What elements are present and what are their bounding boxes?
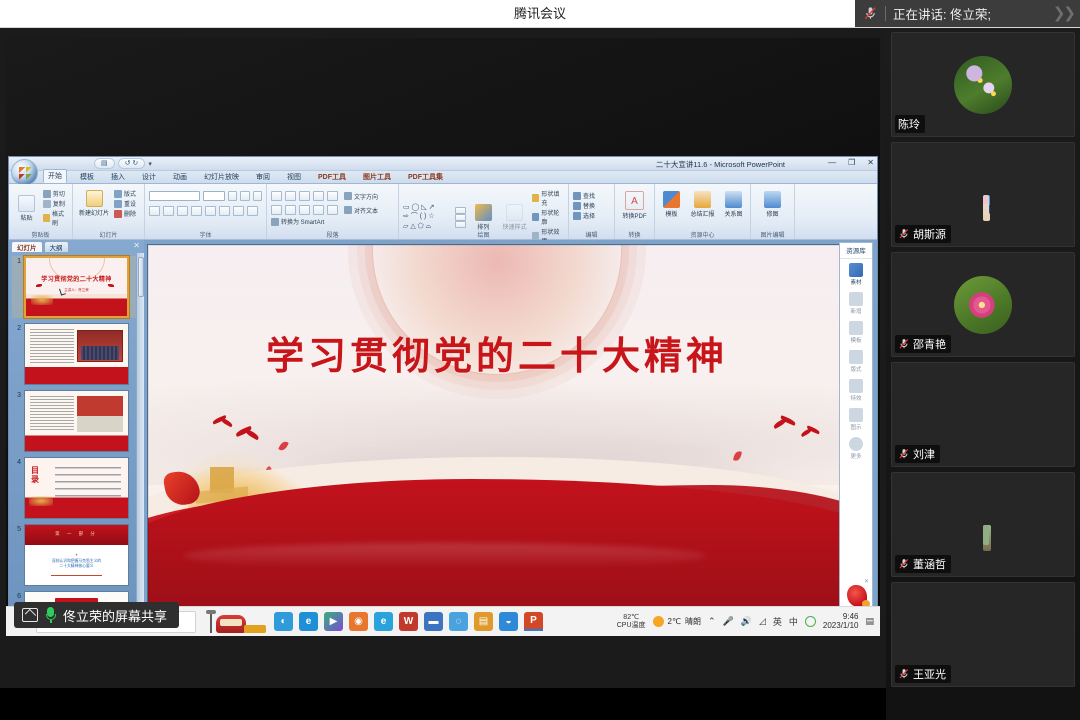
ribbon-group-font: 字体 <box>145 184 267 239</box>
app-cortana-icon[interactable]: ◐ <box>274 612 293 631</box>
decrease-indent-button[interactable] <box>299 191 310 201</box>
taskbar-clock[interactable]: 9:46 2023/1/10 <box>823 613 859 631</box>
copy-icon <box>43 200 51 208</box>
restore-button[interactable]: ❐ <box>848 158 855 167</box>
more-icon <box>849 437 863 451</box>
shadow-button[interactable] <box>205 206 216 216</box>
ribbon-tab-image-tools[interactable]: 图片工具 <box>359 171 395 183</box>
font-color-button[interactable] <box>247 206 258 216</box>
shape-fill-button[interactable]: 形状填充 <box>532 189 564 207</box>
text-direction-button[interactable]: 文字方向 <box>344 192 378 201</box>
convert-to-pdf-button[interactable]: A 转换PDF <box>620 191 650 220</box>
diagram-icon <box>725 191 742 208</box>
ribbon-tab-design[interactable]: 设计 <box>138 171 160 183</box>
ime-language-icon[interactable]: 英 <box>773 615 782 628</box>
arrange-button[interactable]: 排列 <box>469 204 497 231</box>
bold-button[interactable] <box>149 206 160 216</box>
resource-item-assets[interactable]: 素材 <box>840 259 872 288</box>
thumbnail-number: 1 <box>12 256 21 318</box>
participant-tile-shaoqingyan[interactable]: 邵青艳 <box>891 252 1075 357</box>
microphone-icon[interactable]: 🎤 <box>723 616 734 627</box>
badge-divider <box>885 6 886 21</box>
character-spacing-button[interactable] <box>219 206 230 216</box>
font-family-select[interactable] <box>149 191 200 201</box>
resource-item-add[interactable]: 新增 <box>840 288 872 317</box>
ribbon-group-clipboard: 粘贴 剪切 复制 格式刷 剪贴板 <box>9 184 73 239</box>
shared-screen-region: ▤ ↺ ↻ ▾ 二十大宣讲11.6 - Microsoft PowerPoint… <box>0 28 886 688</box>
numbering-button[interactable] <box>285 191 296 201</box>
participant-tile-husiyuan[interactable]: 胡斯源 <box>891 142 1075 247</box>
system-tray: 82℃ CPU温度 2℃ 晴朗 ⌃ 🎤 🔊 ◿ 英 中 <box>617 613 876 631</box>
thumbnail-slide-2[interactable]: 2 <box>12 323 136 385</box>
quick-styles-button[interactable]: 快速样式 <box>501 204 529 231</box>
ribbon-tabs[interactable]: 开始 模板 插入 设计 动画 幻灯片放映 审阅 视图 PDF工具 图片工具 PD… <box>9 171 877 184</box>
clock-date: 2023/1/10 <box>823 621 859 630</box>
delete-icon <box>114 210 122 218</box>
cut-button[interactable]: 剪切 <box>43 189 68 198</box>
app-meeting-icon[interactable]: ◒ <box>499 612 518 631</box>
paste-label: 粘贴 <box>20 213 32 222</box>
paste-icon <box>18 195 35 212</box>
participant-name-label: 董涵哲 <box>895 555 951 573</box>
tab-outline[interactable]: 大纲 <box>44 241 69 252</box>
shapes-more[interactable] <box>455 221 466 228</box>
participant-name-label: 王亚光 <box>895 665 951 683</box>
photo-edit-icon <box>764 191 781 208</box>
shapes-gallery[interactable]: ▭ ◯ ◺ ↗⇨ ⌒ ( ) ☆▱ △ ⬠ ⌓ <box>403 203 452 231</box>
app-chat-icon[interactable]: ◌ <box>449 612 468 631</box>
new-slide-icon <box>86 190 103 207</box>
weather-widget[interactable]: 2℃ 晴朗 <box>653 616 701 627</box>
effects-icon <box>849 379 863 393</box>
silk-highlight <box>183 543 707 569</box>
font-size-select[interactable] <box>203 191 225 201</box>
find-button[interactable]: 查找 <box>573 191 610 200</box>
cpu-temp-value: 82℃ <box>623 614 639 621</box>
shapes-scroll-down[interactable] <box>455 214 466 221</box>
format-painter-button[interactable]: 格式刷 <box>43 209 68 227</box>
meeting-titlebar: 腾讯会议 正在讲话: 佟立荣; ❯❯ <box>0 0 1080 28</box>
ribbon-tab-start[interactable]: 开始 <box>43 169 67 183</box>
ribbon-group-drawing: ▭ ◯ ◺ ↗⇨ ⌒ ( ) ☆▱ △ ⬠ ⌓ 排列 <box>399 184 569 239</box>
replace-button[interactable]: 替换 <box>573 201 610 210</box>
ribbon-tab-slideshow[interactable]: 幻灯片放映 <box>200 171 243 183</box>
align-right-button[interactable] <box>299 205 310 215</box>
ribbon-tab-template[interactable]: 模板 <box>76 171 98 183</box>
align-text-icon <box>344 206 352 214</box>
sun-icon <box>653 616 664 627</box>
notification-icon[interactable]: ▤ <box>865 616 874 627</box>
window-controls[interactable]: — ❐ ✕ <box>828 158 874 167</box>
shape-outline-button[interactable]: 形状轮廓 <box>532 208 564 226</box>
mic-off-icon <box>898 228 910 240</box>
microphone-on-icon[interactable] <box>45 607 56 623</box>
active-speaker-label: 正在讲话: 佟立荣; <box>893 4 991 23</box>
resource-item-chart[interactable]: 图示 <box>840 404 872 433</box>
ribbon-group-slides: 新建幻灯片 版式 重设 删除 幻灯片 <box>73 184 145 239</box>
reset-button[interactable]: 重设 <box>114 199 136 208</box>
participant-tile-chenling[interactable]: 陈玲 <box>891 32 1075 137</box>
ribbon-group-resource-center-label: 资源中心 <box>655 230 750 239</box>
change-case-button[interactable] <box>233 206 244 216</box>
ime-status-circle-icon[interactable] <box>805 616 816 627</box>
shapes-scroll-up[interactable] <box>455 207 466 214</box>
thumbnail-preview <box>24 323 129 385</box>
quick-styles-icon <box>506 204 523 221</box>
thumbnail-slide-5[interactable]: 5 第 一 部 分 ✦ 深刻认识和把握马克思主义的二十大精神核心要义 <box>12 524 136 586</box>
close-button[interactable]: ✕ <box>867 158 874 167</box>
layout-icon <box>114 190 122 198</box>
layout-button[interactable]: 版式 <box>114 189 136 198</box>
ribbon: 粘贴 剪切 复制 格式刷 剪贴板 <box>9 184 877 240</box>
convert-smartart-button[interactable]: 转换为 SmartArt <box>271 217 324 226</box>
smartart-icon <box>271 218 279 226</box>
dove-icon <box>770 416 796 430</box>
avatar <box>954 56 1012 114</box>
layout-icon <box>849 350 863 364</box>
mic-off-icon <box>898 558 910 570</box>
resource-item-template[interactable]: 模板 <box>840 317 872 346</box>
align-text-button[interactable]: 对齐文本 <box>344 206 378 215</box>
resource-pane-header[interactable]: 资源库 <box>840 243 872 259</box>
mic-off-icon <box>898 448 910 460</box>
diagram-button[interactable]: 关系图 <box>721 191 746 218</box>
app-chrome-icon[interactable]: ◉ <box>349 612 368 631</box>
ribbon-group-drawing-label: 绘图 <box>399 230 568 239</box>
ribbon-group-paragraph-label: 段落 <box>267 230 398 239</box>
ribbon-group-convert: A 转换PDF 转换 <box>615 184 655 239</box>
chevron-up-icon[interactable]: ⌃ <box>708 616 716 627</box>
app-ie-icon[interactable]: e <box>374 612 393 631</box>
thumbnail-slide-3[interactable]: 3 <box>12 390 136 452</box>
participant-tile-liujin[interactable]: 刘津 <box>891 362 1075 467</box>
weather-temp: 2℃ <box>668 617 681 626</box>
participant-name-label: 陈玲 <box>895 115 925 133</box>
dove-icon <box>798 426 820 438</box>
tab-slides[interactable]: 幻灯片 <box>11 241 43 252</box>
ribbon-group-resource-center: 模板 总结汇报 关系图 资源中心 <box>655 184 751 239</box>
participant-tile-wangyaguang[interactable]: 王亚光 <box>891 582 1075 687</box>
participant-name-label: 胡斯源 <box>895 225 951 243</box>
delete-slide-button[interactable]: 删除 <box>114 209 136 218</box>
minimize-button[interactable]: — <box>828 158 836 167</box>
add-icon <box>849 292 863 306</box>
thumbnail-slide-4[interactable]: 4 目录 <box>12 457 136 519</box>
thumbnail-number: 4 <box>12 457 21 519</box>
photo-edit-button[interactable]: 修图 <box>758 191 788 218</box>
chart-icon <box>849 408 863 422</box>
line-spacing-button[interactable] <box>327 191 338 201</box>
align-left-button[interactable] <box>271 205 282 215</box>
columns-button[interactable] <box>327 205 338 215</box>
arrange-icon <box>475 204 492 221</box>
slide-title-text[interactable]: 学习贯彻党的二十大精神 <box>148 325 846 380</box>
cut-icon <box>43 190 51 198</box>
align-center-button[interactable] <box>285 205 296 215</box>
reset-icon <box>114 200 122 208</box>
ribbon-tab-review[interactable]: 审阅 <box>252 171 274 183</box>
resource-item-layout[interactable]: 版式 <box>840 346 872 375</box>
promo-blob-icon[interactable] <box>847 585 867 607</box>
app-folder-icon[interactable]: ▬ <box>424 612 443 631</box>
ribbon-group-font-label: 字体 <box>145 230 266 239</box>
ribbon-tab-insert[interactable]: 插入 <box>107 171 129 183</box>
ribbon-group-editing-label: 编辑 <box>569 230 614 239</box>
powerpoint-document-title: 二十大宣讲11.6 - Microsoft PowerPoint <box>9 159 877 170</box>
report-icon <box>694 191 711 208</box>
ribbon-tab-animation[interactable]: 动画 <box>169 171 191 183</box>
thumbnail-preview: 第 一 部 分 ✦ 深刻认识和把握马克思主义的二十大精神核心要义 <box>24 524 129 586</box>
thumbnail-number: 5 <box>12 524 21 586</box>
strikethrough-button[interactable] <box>191 206 202 216</box>
clock-time: 9:46 <box>843 612 859 621</box>
resource-library-pane[interactable]: 资源库 素材 新增 模板 版式 特效 图示 更多 ✕ <box>839 242 873 618</box>
ribbon-group-photo-edit-label: 图片编辑 <box>751 230 794 239</box>
slide-thumbnail-pane: 幻灯片 大纲 ✕ 1 学习贯彻党的二十大精神 主讲人：佟立荣 <box>9 240 144 620</box>
screen-share-indicator[interactable]: 佟立荣的屏幕共享 <box>14 602 179 628</box>
decrease-font-size-button[interactable] <box>240 191 249 201</box>
select-button[interactable]: 选择 <box>573 211 610 220</box>
mic-off-icon <box>898 668 910 680</box>
participant-name-label: 刘津 <box>895 445 940 463</box>
italic-button[interactable] <box>163 206 174 216</box>
close-icon[interactable]: ✕ <box>864 578 869 585</box>
find-icon <box>573 192 581 200</box>
pdf-convert-icon: A <box>625 191 644 210</box>
cpu-temperature-widget[interactable]: 82℃ CPU温度 <box>617 614 646 629</box>
thumbnail-slide-1[interactable]: 1 学习贯彻党的二十大精神 主讲人：佟立荣 <box>12 256 136 318</box>
mic-off-icon <box>863 6 878 21</box>
thumbnail-pane-tabs[interactable]: 幻灯片 大纲 ✕ <box>9 240 144 252</box>
share-label: 佟立荣的屏幕共享 <box>63 606 167 625</box>
select-icon <box>573 212 581 220</box>
ribbon-tab-view[interactable]: 视图 <box>283 171 305 183</box>
dove-icon <box>212 416 235 429</box>
cpu-temp-label: CPU温度 <box>617 622 646 629</box>
clear-formatting-button[interactable] <box>253 191 262 201</box>
replace-icon <box>573 202 581 210</box>
screen-share-icon <box>22 608 38 622</box>
shape-fill-icon <box>532 194 540 202</box>
format-painter-icon <box>43 214 50 222</box>
assets-icon <box>849 263 863 277</box>
participant-tile-donghanzhe[interactable]: 董涵哲 <box>891 472 1075 577</box>
increase-indent-button[interactable] <box>313 191 324 201</box>
resource-item-effects[interactable]: 特效 <box>840 375 872 404</box>
ribbon-tab-pdf-tools[interactable]: PDF工具 <box>314 171 350 183</box>
app-video-icon[interactable]: ▶ <box>324 612 343 631</box>
ribbon-group-slides-label: 幻灯片 <box>73 230 144 239</box>
underline-button[interactable] <box>177 206 188 216</box>
thumbnail-number: 2 <box>12 323 21 385</box>
ribbon-group-editing: 查找 替换 选择 编辑 <box>569 184 615 239</box>
text-direction-icon <box>344 192 352 200</box>
ribbon-tab-pdf-suite[interactable]: PDF工具集 <box>404 171 447 183</box>
shape-outline-icon <box>532 213 540 221</box>
thumbnail-preview: 目录 <box>24 457 129 519</box>
thumbnail-list[interactable]: 1 学习贯彻党的二十大精神 主讲人：佟立荣 <box>9 253 136 620</box>
chevron-right-icon[interactable]: ❯❯ <box>1053 4 1074 22</box>
app-powerpoint-icon[interactable]: P <box>524 612 543 631</box>
dove-icon <box>235 427 262 442</box>
participant-name-label: 邵青艳 <box>895 335 951 353</box>
thumbnail-preview <box>24 390 129 452</box>
weather-desc: 晴朗 <box>685 616 701 627</box>
mic-off-icon <box>898 338 910 350</box>
remote-desktop: ▤ ↺ ↻ ▾ 二十大宣讲11.6 - Microsoft PowerPoint… <box>6 38 880 636</box>
thumbnail-scrollbar[interactable] <box>136 253 144 620</box>
slide-editor-area[interactable]: 学习贯彻党的二十大精神 主讲人：佟立荣 <box>147 244 847 610</box>
app-wps-icon[interactable]: W <box>399 612 418 631</box>
avatar <box>954 276 1012 334</box>
participant-rail[interactable]: 陈玲 胡斯源 邵青艳 <box>886 28 1080 720</box>
thumbnail-number: 3 <box>12 390 21 452</box>
app-orange-icon[interactable]: ▤ <box>474 612 493 631</box>
template-icon <box>663 191 680 208</box>
thumbnail-preview: 学习贯彻党的二十大精神 主讲人：佟立荣 <box>24 256 129 318</box>
volume-icon[interactable]: 🔊 <box>741 616 752 627</box>
template-icon <box>849 321 863 335</box>
increase-font-size-button[interactable] <box>228 191 237 201</box>
paste-button[interactable]: 粘贴 <box>13 195 40 222</box>
app-edge-icon[interactable]: e <box>299 612 318 631</box>
active-speaker-badge[interactable]: 正在讲话: 佟立荣; ❯❯ <box>855 0 1080 27</box>
powerpoint-titlebar: ▤ ↺ ↻ ▾ 二十大宣讲11.6 - Microsoft PowerPoint… <box>9 157 877 171</box>
taskbar-app-icons[interactable]: ◐ e ▶ ◉ e W ▬ ◌ ▤ ◒ P <box>274 612 543 631</box>
ime-mode-icon[interactable]: 中 <box>789 615 798 628</box>
network-icon[interactable]: ◿ <box>759 616 766 627</box>
new-slide-label: 新建幻灯片 <box>79 208 109 217</box>
resource-item-more[interactable]: 更多 <box>840 433 872 462</box>
powerpoint-window: ▤ ↺ ↻ ▾ 二十大宣讲11.6 - Microsoft PowerPoint… <box>8 156 878 633</box>
desktop-widget-icon[interactable] <box>196 609 268 635</box>
ribbon-group-photo-edit: 修图 图片编辑 <box>751 184 795 239</box>
office-orb-icon[interactable] <box>11 159 38 186</box>
ribbon-group-convert-label: 转换 <box>615 230 654 239</box>
report-button[interactable]: 总结汇报 <box>690 191 715 218</box>
template-button[interactable]: 模板 <box>659 191 684 218</box>
ribbon-group-paragraph: 文字方向 对齐文本 转换为 SmartArt <box>267 184 399 239</box>
powerpoint-workspace: 幻灯片 大纲 ✕ 1 学习贯彻党的二十大精神 主讲人：佟立荣 <box>9 240 877 620</box>
close-icon[interactable]: ✕ <box>133 241 140 250</box>
new-slide-button[interactable]: 新建幻灯片 <box>77 190 111 217</box>
screen-root: 腾讯会议 正在讲话: 佟立荣; ❯❯ ▤ <box>0 0 1080 720</box>
justify-button[interactable] <box>313 205 324 215</box>
scrollbar-thumb[interactable] <box>138 257 144 297</box>
current-slide[interactable]: 学习贯彻党的二十大精神 主讲人：佟立荣 <box>147 244 847 610</box>
ribbon-group-clipboard-label: 剪贴板 <box>9 230 72 239</box>
great-wall-tower <box>210 467 234 493</box>
copy-button[interactable]: 复制 <box>43 199 68 208</box>
bullets-button[interactable] <box>271 191 282 201</box>
